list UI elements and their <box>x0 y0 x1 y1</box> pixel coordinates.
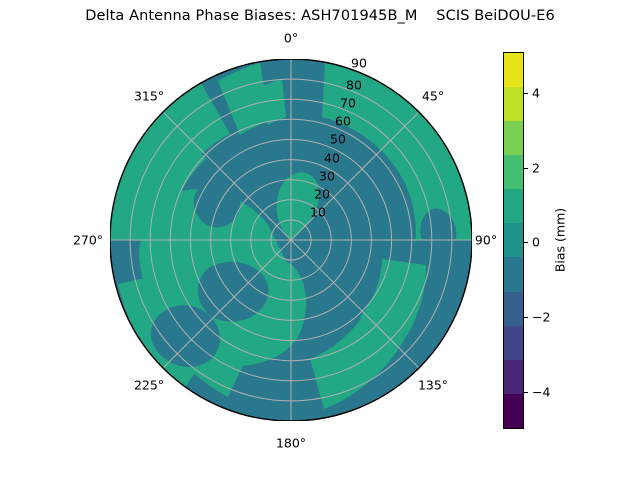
colorbar-tick-mark-0 <box>524 242 528 243</box>
colorbar-tick-mark-4 <box>524 93 528 94</box>
colorbar-band <box>504 189 523 223</box>
colorbar-band <box>504 155 523 189</box>
colorbar-band <box>504 360 523 394</box>
colorbar-tick-label-n4: −4 <box>532 385 550 400</box>
colorbar-gradient-strip <box>503 52 524 429</box>
r-tick-30: 30 <box>319 169 335 184</box>
colorbar-band <box>504 53 523 87</box>
colorbar-tick-mark-2 <box>524 168 528 169</box>
r-tick-80: 80 <box>346 78 362 93</box>
r-tick-10: 10 <box>310 205 326 220</box>
theta-tick-315: 315° <box>134 89 164 104</box>
colorbar-tick-label-4: 4 <box>532 86 540 101</box>
theta-tick-180: 180° <box>276 436 306 451</box>
r-tick-20: 20 <box>314 187 330 202</box>
theta-gridlines <box>110 59 472 421</box>
r-tick-50: 50 <box>330 132 346 147</box>
polar-axes[interactable] <box>110 59 472 421</box>
colorbar-tick-mark-n4 <box>524 392 528 393</box>
r-tick-40: 40 <box>324 151 340 166</box>
theta-tick-270: 270° <box>73 233 103 248</box>
colorbar-tick-label-0: 0 <box>532 235 540 250</box>
colorbar-band <box>504 223 523 257</box>
figure-canvas: Delta Antenna Phase Biases: ASH701945B_M… <box>0 0 640 480</box>
r-tick-90: 90 <box>351 56 367 71</box>
theta-tick-135: 135° <box>418 378 448 393</box>
colorbar[interactable]: 4 2 0 −2 −4 <box>503 52 524 429</box>
polar-contour-plot <box>110 59 472 421</box>
colorbar-band <box>504 87 523 121</box>
theta-tick-90: 90° <box>475 233 497 248</box>
colorbar-band <box>504 292 523 326</box>
theta-tick-45: 45° <box>422 89 444 104</box>
colorbar-axis-label: Bias (mm) <box>553 208 568 272</box>
colorbar-band <box>504 394 523 428</box>
colorbar-tick-label-2: 2 <box>532 161 540 176</box>
r-tick-70: 70 <box>340 96 356 111</box>
colorbar-tick-label-n2: −2 <box>532 310 550 325</box>
colorbar-tick-mark-n2 <box>524 317 528 318</box>
colorbar-band <box>504 326 523 360</box>
theta-tick-225: 225° <box>134 378 164 393</box>
page-title: Delta Antenna Phase Biases: ASH701945B_M… <box>0 8 640 24</box>
theta-tick-0: 0° <box>284 31 298 46</box>
colorbar-band <box>504 257 523 291</box>
r-tick-60: 60 <box>335 114 351 129</box>
colorbar-band <box>504 121 523 155</box>
